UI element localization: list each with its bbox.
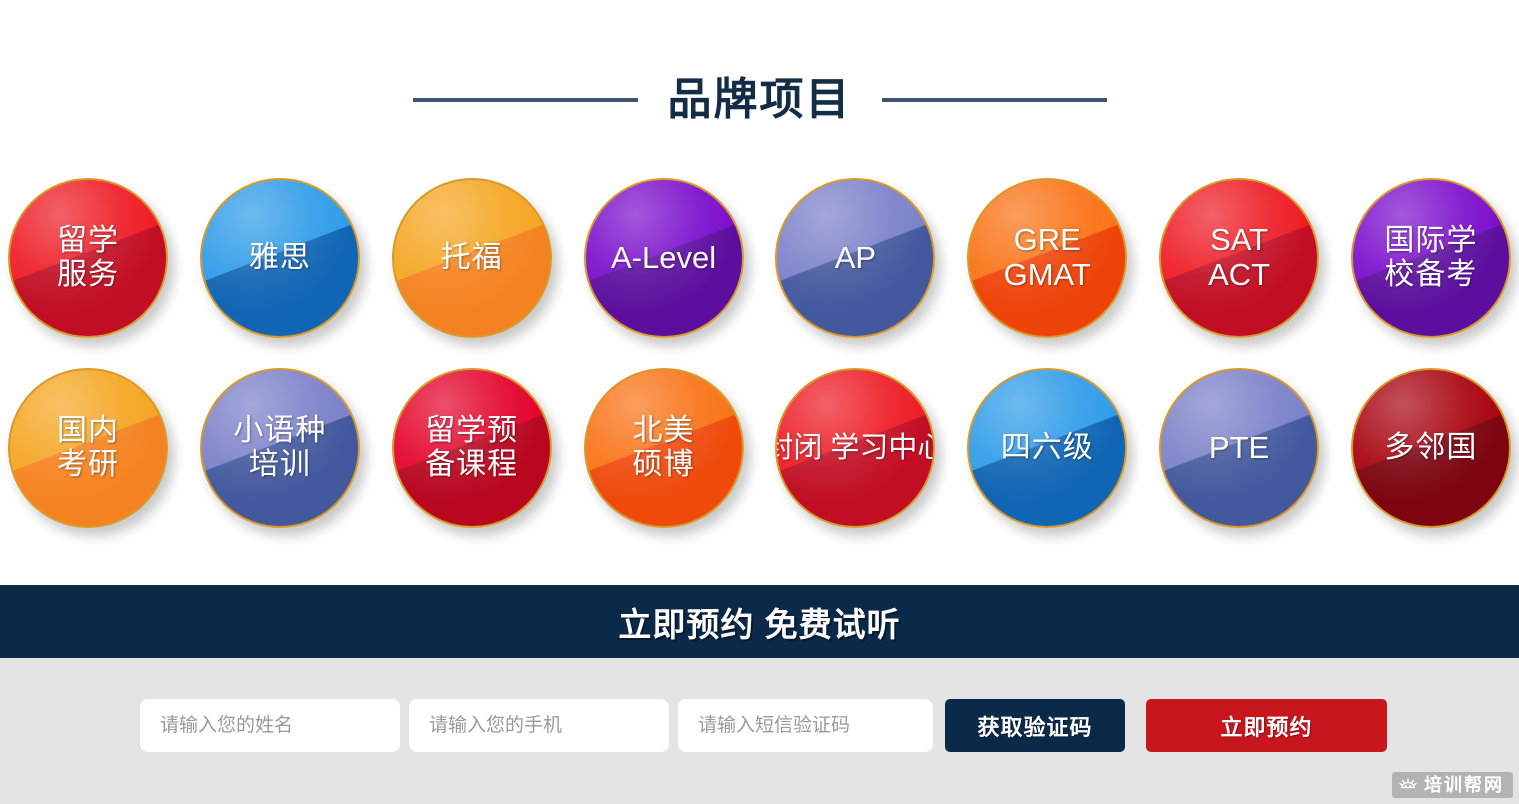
program-bubble[interactable]: 四六级	[967, 368, 1127, 528]
program-row-1: 留学 服务雅思托福A-LevelAPGRE GMATSAT ACT国际学 校备考	[0, 178, 1519, 338]
program-bubble[interactable]: 封闭 学习中心	[775, 368, 935, 528]
page-title: 品牌项目	[0, 60, 1519, 140]
title-rule-right	[882, 98, 1107, 102]
program-bubble-label: 留学 服务	[55, 224, 121, 291]
program-grid: 留学 服务雅思托福A-LevelAPGRE GMATSAT ACT国际学 校备考…	[0, 178, 1519, 558]
program-bubble[interactable]: GRE GMAT	[967, 178, 1127, 338]
cta-banner-text: 立即预约 免费试听	[618, 598, 900, 646]
sun-eye-icon	[1398, 775, 1418, 795]
program-bubble-label: 雅思	[247, 241, 313, 275]
program-bubble-label: AP	[833, 241, 878, 276]
program-bubble[interactable]: 托福	[392, 178, 552, 338]
site-watermark: 培训帮网	[1392, 772, 1513, 798]
name-input[interactable]	[140, 699, 400, 752]
program-bubble-label: 四六级	[999, 431, 1096, 465]
watermark-text: 培训帮网	[1424, 775, 1504, 795]
program-bubble[interactable]: 留学 服务	[8, 178, 168, 338]
program-bubble[interactable]: 北美 硕博	[584, 368, 744, 528]
program-bubble-label: 封闭 学习中心	[775, 432, 935, 464]
sms-code-input[interactable]	[678, 699, 933, 752]
program-bubble[interactable]: PTE	[1159, 368, 1319, 528]
booking-form-area: 获取验证码 立即预约	[0, 658, 1519, 804]
program-row-2: 国内 考研小语种 培训留学预 备课程北美 硕博封闭 学习中心四六级PTE多邻国	[0, 368, 1519, 528]
program-bubble[interactable]: 国际学 校备考	[1351, 178, 1511, 338]
program-bubble-label: 多邻国	[1382, 431, 1479, 465]
program-bubble[interactable]: 小语种 培训	[200, 368, 360, 528]
program-bubble[interactable]: 留学预 备课程	[392, 368, 552, 528]
page-title-text: 品牌项目	[668, 78, 852, 122]
program-bubble[interactable]: 国内 考研	[8, 368, 168, 528]
program-bubble[interactable]: A-Level	[584, 178, 744, 338]
submit-booking-button[interactable]: 立即预约	[1146, 699, 1387, 752]
program-bubble-label: SAT ACT	[1206, 223, 1272, 292]
title-rule-left	[413, 98, 638, 102]
program-bubble[interactable]: SAT ACT	[1159, 178, 1319, 338]
program-bubble[interactable]: AP	[775, 178, 935, 338]
booking-form: 获取验证码 立即预约	[140, 699, 1387, 752]
program-bubble-label: 小语种 培训	[231, 414, 328, 481]
cta-banner: 立即预约 免费试听	[0, 585, 1519, 658]
program-bubble-label: PTE	[1207, 431, 1271, 466]
program-bubble-label: 国际学 校备考	[1382, 224, 1479, 291]
program-bubble-label: A-Level	[609, 241, 718, 276]
get-sms-code-button[interactable]: 获取验证码	[945, 699, 1125, 752]
program-bubble-label: GRE GMAT	[1002, 223, 1093, 292]
program-bubble-label: 国内 考研	[55, 414, 121, 481]
program-bubble-label: 托福	[439, 241, 505, 275]
phone-input[interactable]	[409, 699, 669, 752]
program-bubble-label: 北美 硕博	[631, 414, 697, 481]
program-bubble[interactable]: 雅思	[200, 178, 360, 338]
program-bubble-label: 留学预 备课程	[423, 414, 520, 481]
program-bubble[interactable]: 多邻国	[1351, 368, 1511, 528]
